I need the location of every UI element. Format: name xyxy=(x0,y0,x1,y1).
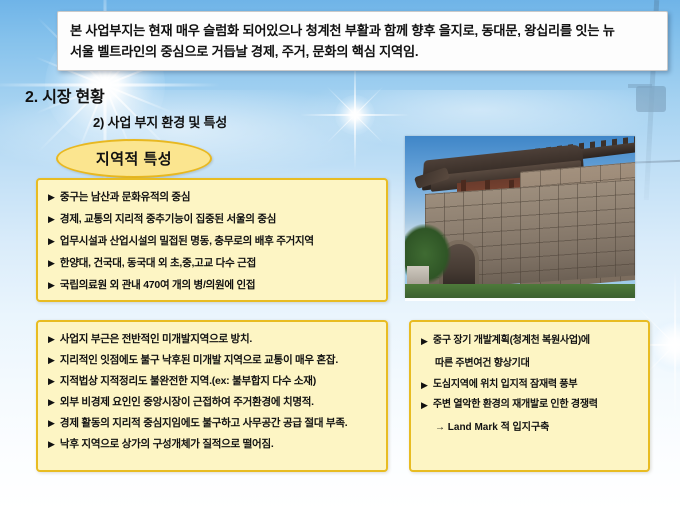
list-item: ▶ 중구는 남산과 문화유적의 중심 xyxy=(48,189,378,205)
list-item-label: 업무시설과 산업시설의 밀접된 명동, 충무로의 배후 주거지역 xyxy=(60,233,314,249)
list-item: ▶ 업무시설과 산업시설의 밀접된 명동, 충무로의 배후 주거지역 xyxy=(48,233,378,249)
list-item-label: 국립의료원 외 관내 470여 개의 병/의원에 인접 xyxy=(60,277,255,293)
regional-characteristics-ellipse-label: 지역적 특성 xyxy=(56,139,212,178)
bullet-triangle-icon: ▶ xyxy=(48,255,55,271)
bullet-triangle-icon: ▶ xyxy=(421,333,428,349)
bullet-triangle-icon: ▶ xyxy=(48,331,55,347)
list-item: ▶ 지적법상 지적정리도 불완전한 지역.(ex: 불부합지 다수 소재) xyxy=(48,373,378,389)
list-item-label: 주변 열악한 환경의 재개발로 인한 경쟁력 xyxy=(433,397,598,413)
ellipse-label-text: 지역적 특성 xyxy=(96,148,172,169)
sun-flare-icon-center xyxy=(300,60,410,170)
list-item-label: 한양대, 건국대, 동국대 외 초,중,고교 다수 근접 xyxy=(60,255,256,271)
list-item-label: 경제, 교통의 지리적 중추기능이 집중된 서울의 중심 xyxy=(60,211,276,227)
subsection-title: 2) 사업 부지 환경 및 특성 xyxy=(93,112,227,131)
summary-banner: 본 사업부지는 현재 매우 슬럼화 되어있으나 청계천 부활과 함께 향후 을지… xyxy=(57,11,668,71)
list-item: ▶ 국립의료원 외 관내 470여 개의 병/의원에 인접 xyxy=(48,277,378,293)
list-item: ▶ 한양대, 건국대, 동국대 외 초,중,고교 다수 근접 xyxy=(48,255,378,271)
list-item: ▶ 낙후 지역으로 상가의 구성개체가 질적으로 떨어짐. xyxy=(48,436,378,452)
weaknesses-box: ▶ 사업지 부근은 전반적인 미개발지역으로 방치. ▶ 지리적인 잇점에도 불… xyxy=(36,320,388,472)
list-item-label: 중구 장기 개발계획(청계천 복원사업)에 xyxy=(433,333,590,349)
land-mark-note-label: → Land Mark 적 입지구축 xyxy=(435,422,549,433)
section-title: 2. 시장 현황 xyxy=(25,83,105,107)
list-item-label: 외부 비경제 요인인 중앙시장이 근접하여 주거환경에 치명적. xyxy=(60,394,314,410)
photo-bottom-edge xyxy=(405,298,635,301)
list-item-label: 경제 활동의 지리적 중심지임에도 불구하고 사무공간 공급 절대 부족. xyxy=(60,415,347,431)
bullet-triangle-icon: ▶ xyxy=(48,352,55,368)
bullet-triangle-icon: ▶ xyxy=(421,397,428,413)
slide-canvas: 본 사업부지는 현재 매우 슬럼화 되어있으나 청계천 부활과 함께 향후 을지… xyxy=(0,0,680,510)
list-item-label: 도심지역에 위치 입지적 잠재력 풍부 xyxy=(433,377,577,393)
bullet-triangle-icon: ▶ xyxy=(48,211,55,227)
list-item: ▶ 경제 활동의 지리적 중심지임에도 불구하고 사무공간 공급 절대 부족. xyxy=(48,415,378,431)
list-item-label: 낙후 지역으로 상가의 구성개체가 질적으로 떨어짐. xyxy=(60,436,274,452)
list-item-continuation: 따른 주변여건 향상기대 xyxy=(421,353,640,372)
opportunities-box: ▶ 중구 장기 개발계획(청계천 복원사업)에 따른 주변여건 향상기대 ▶ 도… xyxy=(409,320,650,472)
list-item: ▶ 경제, 교통의 지리적 중추기능이 집중된 서울의 중심 xyxy=(48,211,378,227)
bullet-triangle-icon: ▶ xyxy=(48,189,55,205)
bullet-triangle-icon: ▶ xyxy=(48,277,55,293)
bullet-triangle-icon: ▶ xyxy=(48,394,55,410)
bullet-triangle-icon: ▶ xyxy=(48,373,55,389)
list-item: ▶ 지리적인 잇점에도 불구 낙후된 미개발 지역으로 교통이 매우 혼잡. xyxy=(48,352,378,368)
bullet-triangle-icon: ▶ xyxy=(48,436,55,452)
list-item: ▶ 외부 비경제 요인인 중앙시장이 근접하여 주거환경에 치명적. xyxy=(48,394,378,410)
banner-line-2: 서울 벨트라인의 중심으로 거듭날 경제, 주거, 문화의 핵심 지역임. xyxy=(70,41,657,62)
list-item-label: 지적법상 지적정리도 불완전한 지역.(ex: 불부합지 다수 소재) xyxy=(60,373,316,389)
list-item-label: 중구는 남산과 문화유적의 중심 xyxy=(60,189,190,205)
land-mark-note: → Land Mark 적 입지구축 xyxy=(421,417,640,436)
bullet-triangle-icon: ▶ xyxy=(48,415,55,431)
bullet-triangle-icon: ▶ xyxy=(48,233,55,249)
bullet-triangle-icon: ▶ xyxy=(421,377,428,393)
fortress-gate-photo xyxy=(405,136,635,298)
list-item: ▶ 중구 장기 개발계획(청계천 복원사업)에 xyxy=(421,333,640,349)
list-item: ▶ 도심지역에 위치 입지적 잠재력 풍부 xyxy=(421,377,640,393)
banner-line-1: 본 사업부지는 현재 매우 슬럼화 되어있으나 청계천 부활과 함께 향후 을지… xyxy=(70,20,657,41)
list-item-label: 지리적인 잇점에도 불구 낙후된 미개발 지역으로 교통이 매우 혼잡. xyxy=(60,352,338,368)
list-item-continuation-label: 따른 주변여건 향상기대 xyxy=(435,358,530,369)
regional-characteristics-box: ▶ 중구는 남산과 문화유적의 중심 ▶ 경제, 교통의 지리적 중추기능이 집… xyxy=(36,178,388,302)
list-item-label: 사업지 부근은 전반적인 미개발지역으로 방치. xyxy=(60,331,252,347)
list-item: ▶ 주변 열악한 환경의 재개발로 인한 경쟁력 xyxy=(421,397,640,413)
list-item: ▶ 사업지 부근은 전반적인 미개발지역으로 방치. xyxy=(48,331,378,347)
